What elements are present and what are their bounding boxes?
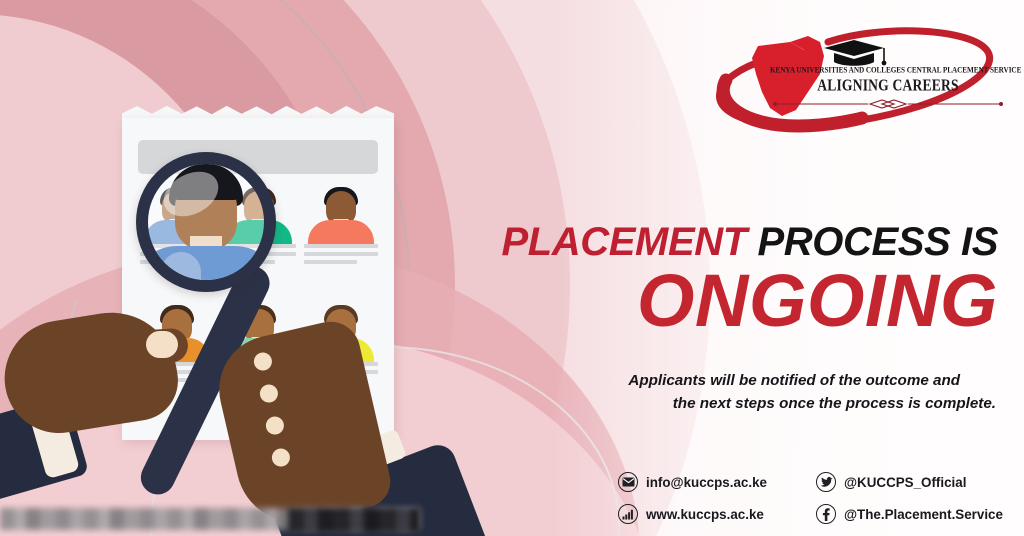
subcopy-line-1: Applicants will be notified of the outco… (436, 370, 996, 393)
headline-line-2: ONGOING (438, 262, 998, 340)
headline-process-is: PROCESS IS (757, 220, 998, 264)
contact-facebook[interactable]: @The.Placement.Service (816, 504, 1014, 524)
contact-twitter[interactable]: @KUCCPS_Official (816, 472, 1014, 492)
envelope-icon (618, 472, 638, 492)
left-hand-fingertip (146, 331, 178, 358)
subcopy: Applicants will be notified of the outco… (436, 370, 996, 416)
signal-bars-icon (618, 504, 638, 524)
applicant-card (304, 182, 378, 244)
contact-email[interactable]: info@kuccps.ac.ke (618, 472, 816, 492)
contact-block: info@kuccps.ac.ke @KUCCPS_Official www.k… (618, 466, 1014, 530)
headline-placement: PLACEMENT (501, 220, 746, 264)
blurred-watermark-dark (288, 508, 420, 532)
contact-facebook-label: @The.Placement.Service (844, 507, 1003, 522)
magnifying-glass-icon (136, 152, 276, 292)
contact-website-label: www.kuccps.ac.ke (646, 507, 764, 522)
card-text-lines (304, 244, 378, 268)
illustration-group (0, 0, 470, 536)
poster-canvas: KENYA UNIVERSITIES AND COLLEGES CENTRAL … (0, 0, 1024, 536)
facebook-f-icon (816, 504, 836, 524)
twitter-bird-icon (816, 472, 836, 492)
copy-block: PLACEMENT PROCESS IS ONGOING Applicants … (438, 0, 998, 536)
contact-website[interactable]: www.kuccps.ac.ke (618, 504, 816, 524)
headline-line-1: PLACEMENT PROCESS IS (438, 222, 998, 262)
contact-email-label: info@kuccps.ac.ke (646, 475, 767, 490)
contact-twitter-label: @KUCCPS_Official (844, 475, 966, 490)
avatar (304, 182, 378, 244)
subcopy-line-2: the next steps once the process is compl… (436, 393, 996, 416)
